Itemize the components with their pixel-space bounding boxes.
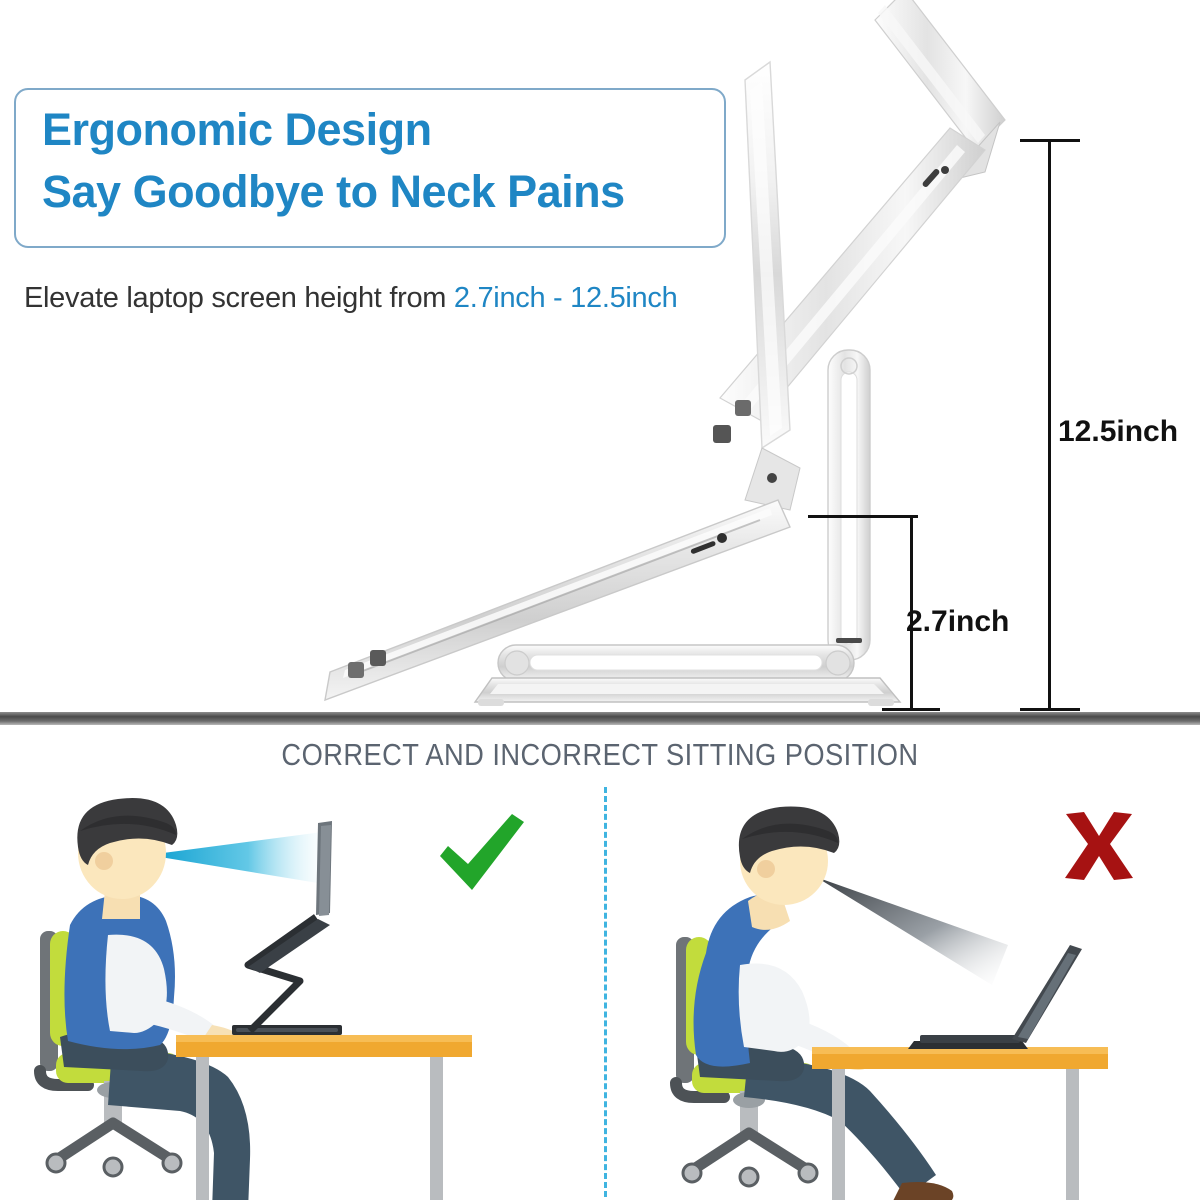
dim-short-bottom-cap: [882, 708, 940, 711]
posture-comparison-section: CORRECT AND INCORRECT SITTING POSITION: [0, 725, 1200, 1200]
section-divider: [0, 712, 1200, 725]
panel-divider: [604, 787, 607, 1197]
headline-box: Ergonomic Design Say Goodbye to Neck Pai…: [14, 88, 726, 248]
middle-hinge: [745, 448, 800, 510]
vertical-support-post: [828, 350, 870, 660]
base-plate: [475, 678, 900, 706]
top-feature-section: Ergonomic Design Say Goodbye to Neck Pai…: [0, 0, 1200, 713]
dim-short-label: 2.7inch: [906, 605, 1009, 639]
base-slot-arm: [498, 645, 854, 681]
red-x-icon: [1060, 810, 1138, 887]
subtitle: Elevate laptop screen height from 2.7inc…: [24, 282, 677, 315]
dim-tall-bottom-cap: [1020, 708, 1080, 711]
green-check-icon: [432, 812, 528, 901]
product-infographic: Ergonomic Design Say Goodbye to Neck Pai…: [0, 0, 1200, 1200]
subtitle-range: 2.7inch - 12.5inch: [454, 282, 678, 314]
subtitle-prefix: Elevate laptop screen height from: [24, 282, 454, 314]
dim-tall-line: [1048, 139, 1051, 711]
headline-line-1: Ergonomic Design: [42, 104, 432, 156]
headline-line-2: Say Goodbye to Neck Pains: [42, 166, 625, 218]
section-title: CORRECT AND INCORRECT SITTING POSITION: [72, 737, 1128, 773]
dim-short-top-cap: [808, 515, 918, 518]
dim-tall-label: 12.5inch: [1058, 415, 1178, 449]
sight-line-cone: [816, 877, 1008, 985]
